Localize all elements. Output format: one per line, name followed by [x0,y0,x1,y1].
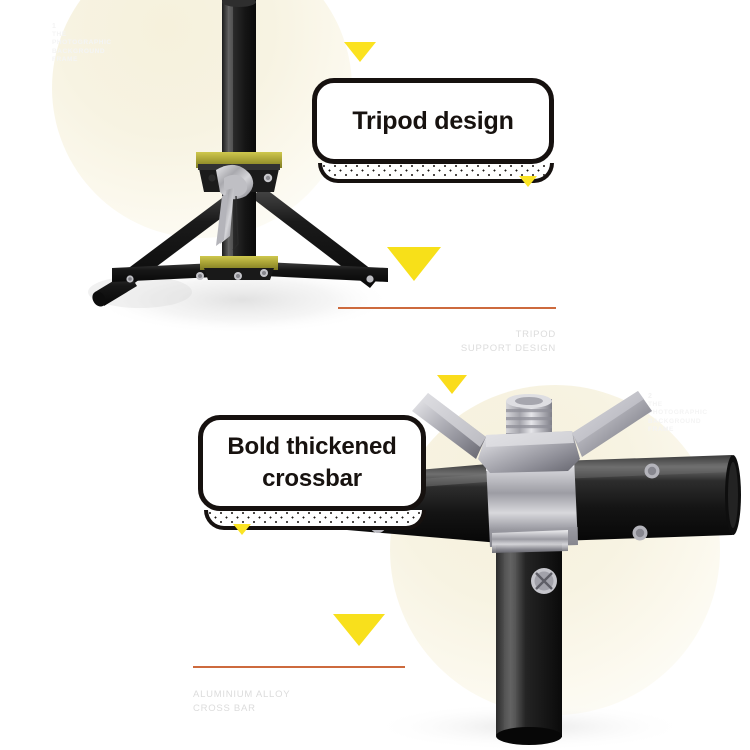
section-tripod: 1THE PHOTOGRAPHIC BACKGROUND FRAME [0,0,750,375]
caption-aluminium-alloy-cross-bar: ALUMINIUM ALLOY CROSS BAR [193,688,413,716]
callout-tripod-label: Tripod design [352,106,513,136]
yellow-arrow-icon [437,375,467,394]
caption-tripod-support-design: TRIPOD SUPPORT DESIGN [396,328,556,356]
product-feature-page: 1THE PHOTOGRAPHIC BACKGROUND FRAME [0,0,750,750]
product-photo-tripod [0,0,470,375]
caption-rule-tripod [338,307,556,309]
callout-bold-thickened-crossbar: Bold thickened crossbar [198,415,426,511]
yellow-arrow-large-icon [333,614,385,646]
yellow-arrow-small-icon [233,524,251,535]
yellow-arrow-small-icon [519,176,537,187]
callout-crossbar-label: Bold thickened crossbar [227,431,396,495]
section-crossbar: 2THE PHOTOGRAPHIC BACKGROUND FRAME [0,375,750,750]
yellow-arrow-icon [344,42,376,62]
caption-rule-crossbar [193,666,405,668]
callout-tripod-design: Tripod design [312,78,554,164]
